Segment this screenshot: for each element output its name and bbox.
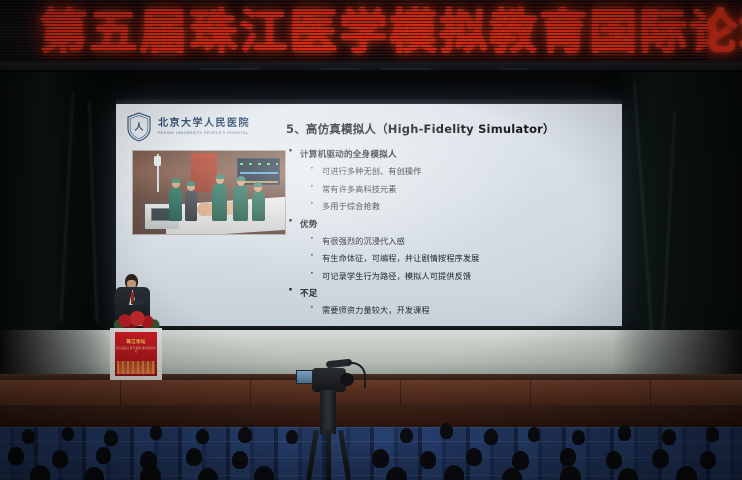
tripod-leg	[306, 430, 319, 480]
led-banner: 第五届珠江医学模拟教育国际论坛	[0, 0, 742, 78]
hospital-name-en: PEKING UNIVERSITY PEOPLE'S HOSPITAL	[158, 131, 250, 135]
tripod-leg	[338, 430, 351, 480]
audience-head	[700, 451, 716, 469]
photo-staff-cap	[215, 174, 224, 179]
audience-head	[560, 448, 576, 466]
slide-bullet-list: 计算机驱动的全身模拟人 可进行多种无创、有创操作 常有许多高科技元素 多用于综合…	[288, 148, 608, 322]
podium-banner-skyline-graphic	[117, 361, 155, 374]
photo-staff-member	[169, 187, 182, 221]
audience-head	[196, 429, 209, 444]
photo-staff-cap	[186, 181, 195, 186]
video-camera-on-tripod	[296, 358, 362, 480]
audience-area	[0, 405, 742, 480]
photo-staff-cap	[236, 176, 245, 181]
photo-staff-cap	[171, 178, 180, 183]
hospital-name-zh: 北京大学人民医院	[158, 119, 250, 130]
audience-head	[104, 430, 118, 446]
bullet-level2: 可记录学生行为路径，模拟人可提供反馈	[288, 270, 608, 282]
audience-head	[22, 429, 35, 444]
audience-head	[572, 430, 585, 445]
projection-screen: 人 北京大学人民医院 PEKING UNIVERSITY PEOPLE'S HO…	[116, 104, 622, 330]
bullet-level1: 优势	[288, 218, 608, 230]
audience-head	[484, 429, 498, 445]
curtain-fold	[60, 92, 74, 322]
audience-head	[706, 427, 719, 442]
audience-head	[150, 425, 162, 440]
tripod-column	[320, 390, 336, 434]
audience-head	[232, 451, 248, 469]
bullet-level2: 有生命体征，可编程，并让剧情按程序发展	[288, 252, 608, 264]
stage-curtain-right	[620, 72, 742, 340]
tripod-leg	[326, 430, 331, 480]
podium-and-speaker: 珠江论坛 第五届珠江医学模拟 教育国际论坛	[96, 268, 176, 380]
podium-banner-subtitle: 第五届珠江医学模拟 教育国际论坛	[115, 347, 157, 354]
auditorium-back-wall	[0, 405, 742, 427]
bullet-level2: 有很强烈的沉浸代入感	[288, 235, 608, 247]
audience-head	[652, 449, 669, 468]
audience-head	[238, 427, 252, 443]
slide-title: 5、高仿真模拟人（High-Fidelity Simulator）	[286, 121, 555, 137]
stage-floor-shadow-left	[0, 330, 110, 376]
audience-head	[372, 449, 389, 468]
audience-head	[62, 427, 74, 441]
bullet-level1: 不足	[288, 287, 608, 299]
slide-org-header: 人 北京大学人民医院 PEKING UNIVERSITY PEOPLE'S HO…	[126, 112, 250, 142]
bullet-level2: 需要师资力量较大，开发课程	[288, 304, 608, 316]
stage-floor-shadow-right	[612, 330, 742, 376]
audience-head	[440, 423, 453, 439]
photo-staff-member	[252, 191, 265, 221]
podium-banner-title: 珠江论坛	[115, 339, 157, 345]
bullet-level2: 常有许多高科技元素	[288, 183, 608, 195]
photo-staff-member	[185, 190, 197, 221]
podium-banner: 珠江论坛 第五届珠江医学模拟 教育国际论坛	[115, 332, 157, 376]
audience-head	[420, 451, 436, 469]
svg-text:人: 人	[133, 121, 144, 133]
bullet-level2: 多用于综合抢救	[288, 200, 608, 212]
photo-iv-bag	[154, 156, 161, 166]
audience-head	[662, 429, 676, 445]
audience-head	[512, 451, 529, 470]
audience-head	[606, 451, 622, 469]
photo-staff-member	[212, 183, 227, 221]
audience-head	[618, 425, 631, 441]
photo-staff-cap	[254, 182, 263, 187]
hospital-name-block: 北京大学人民医院 PEKING UNIVERSITY PEOPLE'S HOSP…	[158, 119, 250, 135]
curtain-fold	[633, 82, 652, 332]
bullet-level2: 可进行多种无创、有创操作	[288, 165, 608, 177]
audience-head	[96, 447, 111, 464]
audience-head	[8, 447, 24, 465]
shield-crest-icon: 人	[126, 112, 152, 142]
audience-head	[52, 450, 68, 468]
audience-head	[186, 448, 202, 466]
audience-head	[400, 428, 413, 443]
auditorium-scene: 第五届珠江医学模拟教育国际论坛 人 北京大学人民医院	[0, 0, 742, 480]
audience-head	[30, 465, 50, 480]
bullet-level1: 计算机驱动的全身模拟人	[288, 148, 608, 160]
audience-head	[466, 448, 482, 466]
simulation-training-photo	[132, 150, 286, 235]
audience-head	[444, 465, 464, 480]
photo-staff-member	[233, 185, 248, 221]
audience-head	[528, 427, 540, 442]
led-banner-text: 第五届珠江医学模拟教育国际论坛	[39, 5, 707, 61]
curtain-fold	[662, 112, 676, 332]
